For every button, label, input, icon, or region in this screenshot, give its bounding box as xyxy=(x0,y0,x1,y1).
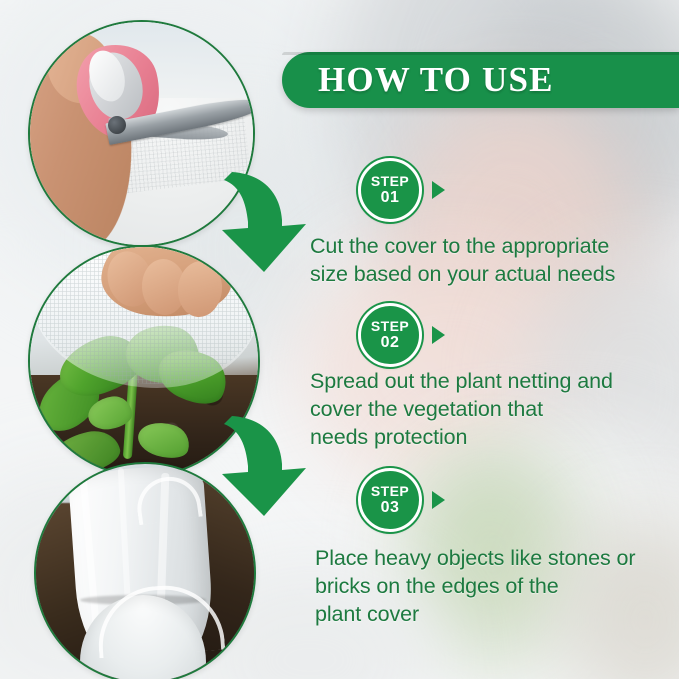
step-2-line-1: Spread out the plant netting and xyxy=(310,369,613,393)
curved-arrow-1-icon xyxy=(218,168,323,276)
curved-arrow-2-icon xyxy=(218,412,323,520)
triangle-right-icon xyxy=(432,491,445,509)
step-3-line-1: Place heavy objects like stones or xyxy=(315,546,635,570)
step-2-badge: STEP 02 xyxy=(358,303,422,367)
step-3-badge-label: STEP xyxy=(371,484,409,498)
step-1-badge: STEP 01 xyxy=(358,158,422,222)
step-3-badge: STEP 03 xyxy=(358,468,422,532)
step-1-badge-group: STEP 01 xyxy=(358,158,445,222)
step-3-line-2: bricks on the edges of the xyxy=(315,574,559,598)
step-3-text: Place heavy objects like stones or brick… xyxy=(315,545,635,629)
step-2-line-2: cover the vegetation that xyxy=(310,397,543,421)
step-1-badge-label: STEP xyxy=(371,174,409,188)
step-2-line-3: needs protection xyxy=(310,425,467,449)
step-1-badge-number: 01 xyxy=(381,190,400,206)
header-banner: HOW TO USE xyxy=(282,52,679,108)
step-2-badge-number: 02 xyxy=(381,335,400,351)
step-3-badge-number: 03 xyxy=(381,500,400,516)
step-2-badge-label: STEP xyxy=(371,319,409,333)
infographic-root: HOW TO USE xyxy=(0,0,679,679)
step-1-line-1: Cut the cover to the appropriate xyxy=(310,234,609,258)
step-3-line-3: plant cover xyxy=(315,602,419,626)
step-1-line-2: size based on your actual needs xyxy=(310,262,615,286)
photo1-scissor-pivot xyxy=(108,116,126,134)
step-2-badge-group: STEP 02 xyxy=(358,303,445,367)
step-3-badge-group: STEP 03 xyxy=(358,468,445,532)
page-title: HOW TO USE xyxy=(318,60,554,100)
step-1-text: Cut the cover to the appropriate size ba… xyxy=(310,233,615,289)
triangle-right-icon xyxy=(432,181,445,199)
step-2-text: Spread out the plant netting and cover t… xyxy=(310,368,613,452)
triangle-right-icon xyxy=(432,326,445,344)
